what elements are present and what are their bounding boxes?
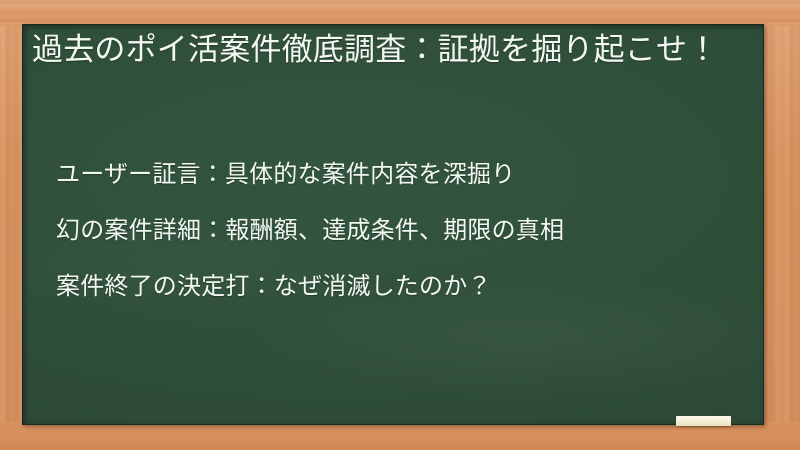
slide-title: 過去のポイ活案件徹底調査：証拠を掘り起こせ！ (32, 28, 748, 72)
chalkboard-surface: 過去のポイ活案件徹底調査：証拠を掘り起こせ！ ユーザー証言：具体的な案件内容を深… (22, 24, 764, 425)
bullet-item-3: 案件終了の決定打：なぜ消滅したのか？ (56, 258, 756, 314)
wood-frame-bottom-ledge (0, 422, 800, 450)
bullet-list: ユーザー証言：具体的な案件内容を深掘り 幻の案件詳細：報酬額、達成条件、期限の真… (56, 146, 756, 314)
wood-frame-top-rail (0, 0, 800, 26)
chalkboard-slide: 過去のポイ活案件徹底調査：証拠を掘り起こせ！ ユーザー証言：具体的な案件内容を深… (0, 0, 800, 450)
slide-content: 過去のポイ活案件徹底調査：証拠を掘り起こせ！ ユーザー証言：具体的な案件内容を深… (22, 24, 764, 425)
bullet-item-1: ユーザー証言：具体的な案件内容を深掘り (56, 146, 756, 202)
chalk-stick-icon (676, 416, 731, 426)
bullet-item-2: 幻の案件詳細：報酬額、達成条件、期限の真相 (56, 202, 756, 258)
